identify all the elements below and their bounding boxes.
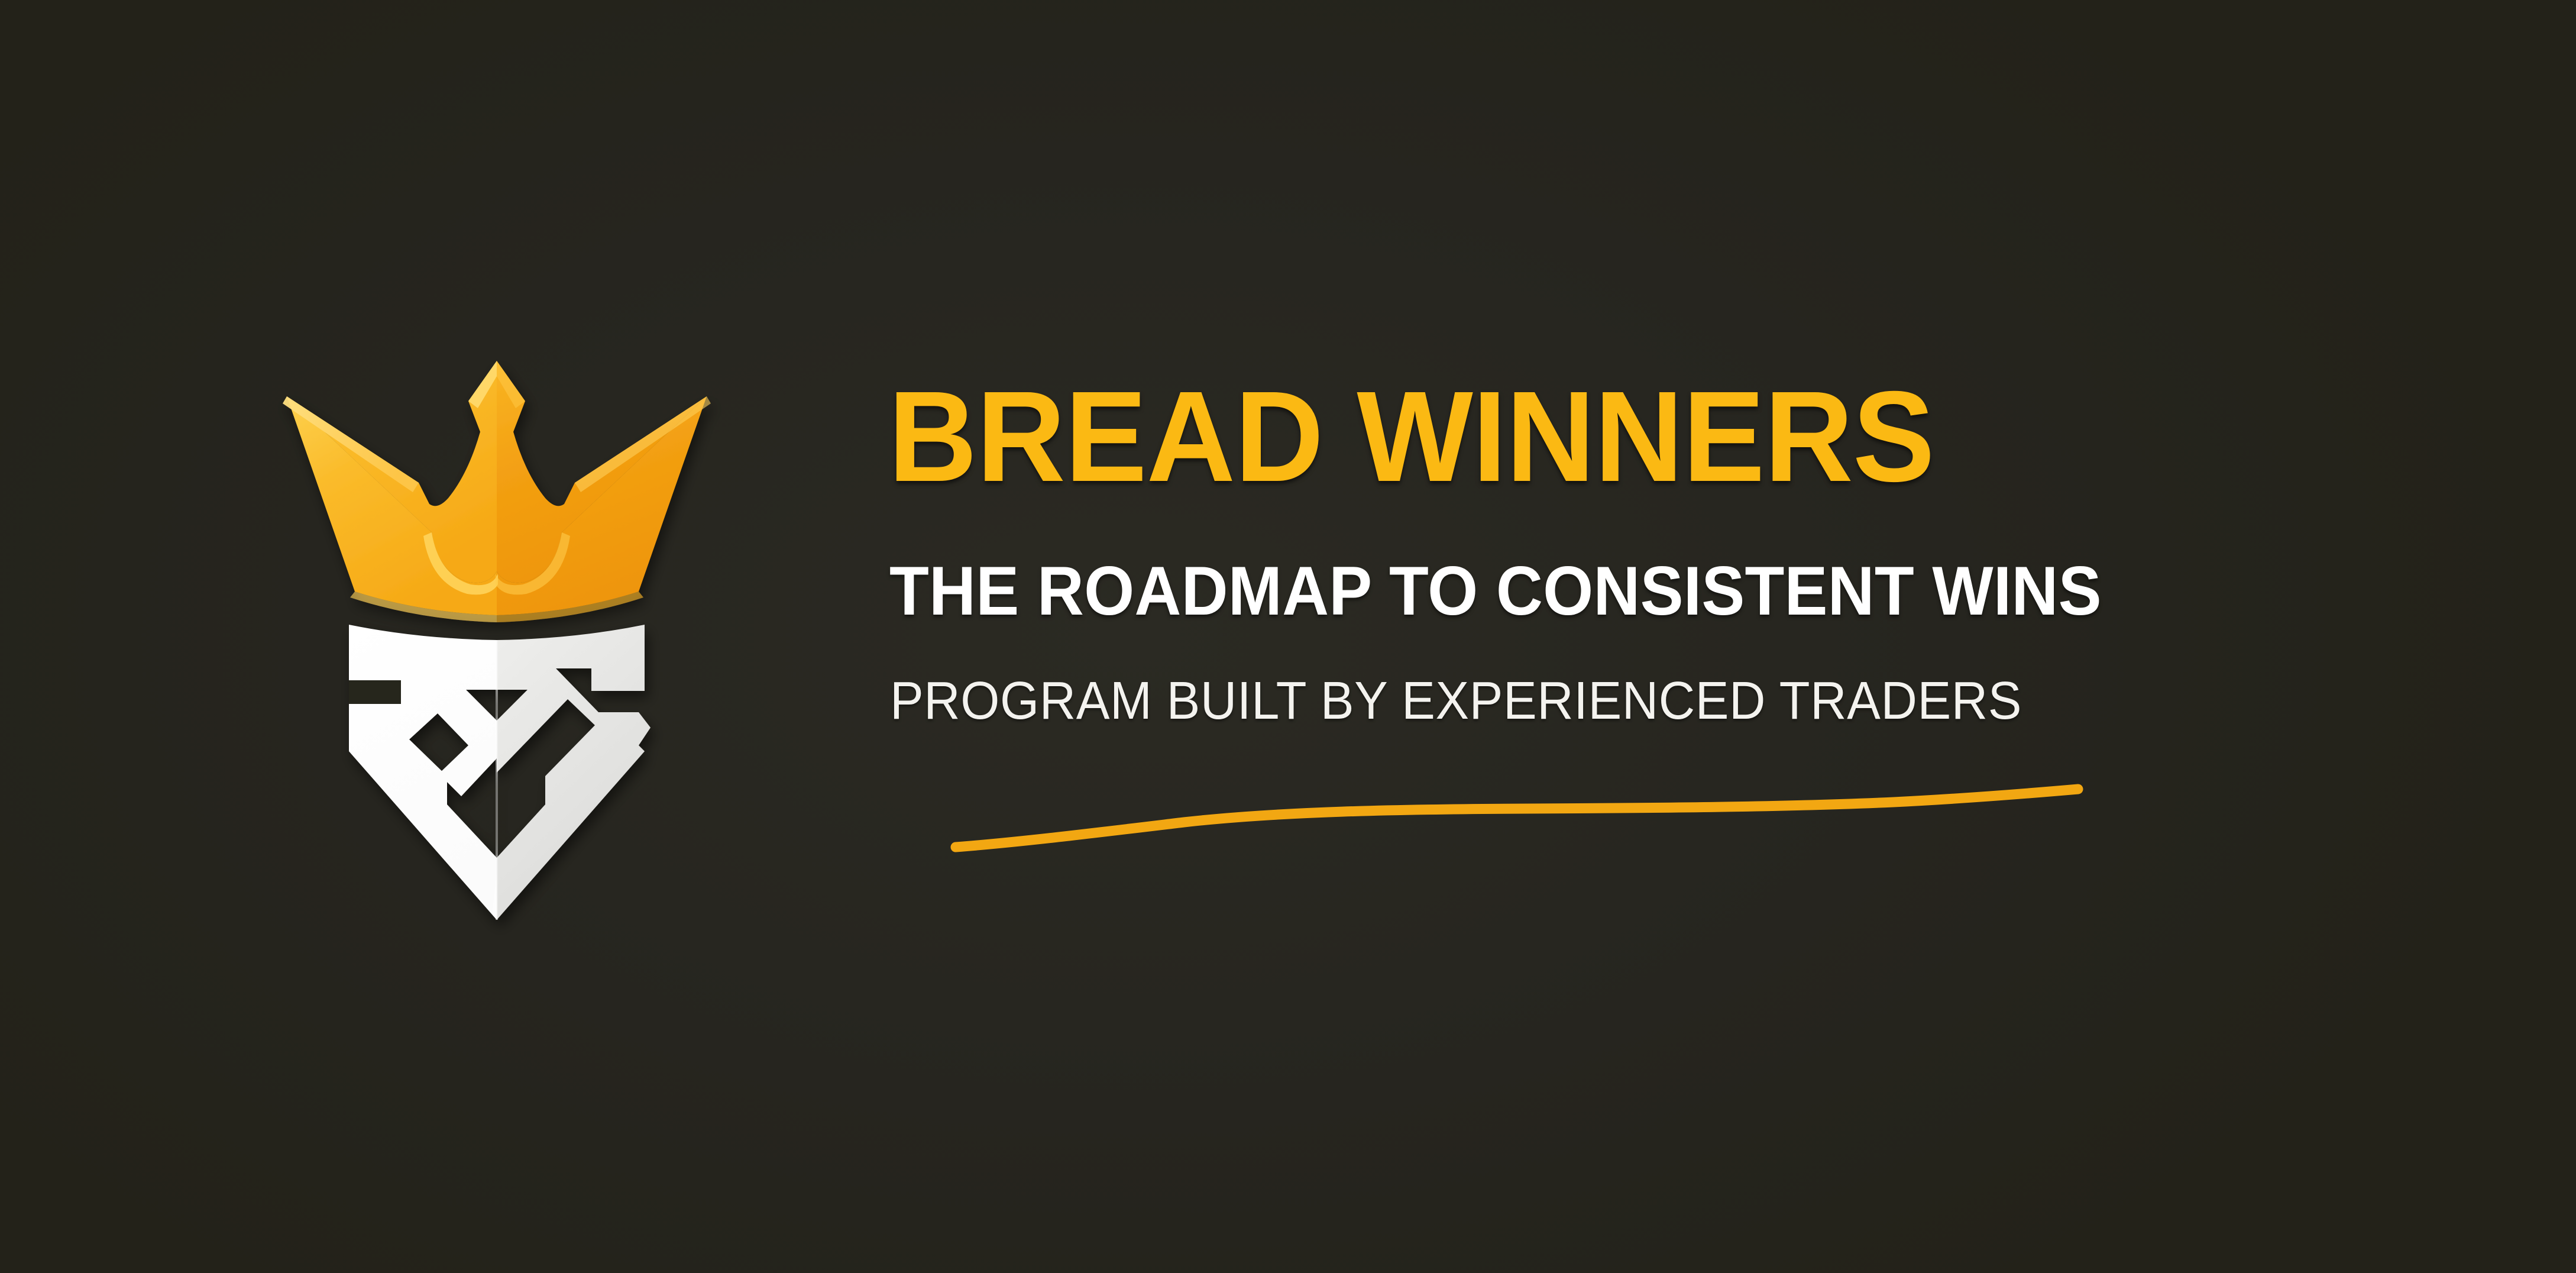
logo-crown — [283, 361, 711, 622]
accent-underline-flourish — [947, 781, 2124, 858]
brand-banner: BREAD WINNERS THE ROADMAP TO CONSISTENT … — [0, 0, 2576, 1273]
brand-subline: PROGRAM BUILT BY EXPERIENCED TRADERS — [890, 674, 2022, 728]
brand-tagline: THE ROADMAP TO CONSISTENT WINS — [889, 556, 2102, 625]
logo-shield — [349, 625, 651, 920]
brand-logo — [260, 337, 757, 929]
page-title: BREAD WINNERS — [888, 373, 1934, 502]
brand-text-block: BREAD WINNERS THE ROADMAP TO CONSISTENT … — [888, 373, 2402, 881]
